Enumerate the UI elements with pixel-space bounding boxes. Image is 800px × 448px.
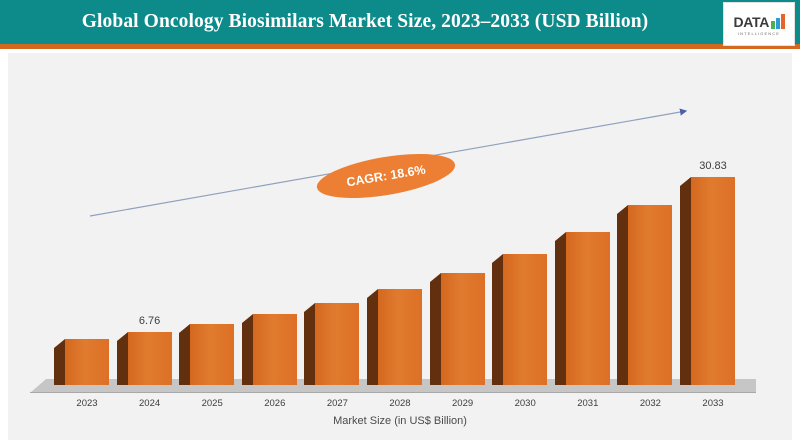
header-accent-rule <box>0 44 800 49</box>
x-axis-line <box>30 392 756 393</box>
x-tick-2024: 2024 <box>120 398 180 409</box>
brand-logo: DATA INTELLIGENCE <box>723 2 795 46</box>
x-tick-2032: 2032 <box>620 398 680 409</box>
x-tick-2033: 2033 <box>683 398 743 409</box>
logo-wordmark: DATA <box>733 15 769 29</box>
logo-tagline: INTELLIGENCE <box>738 31 780 36</box>
chart-canvas: 6.7630.83 CAGR: 18.6% 202320242025202620… <box>8 53 792 440</box>
x-tick-2023: 2023 <box>57 398 117 409</box>
logo-row: DATA <box>733 12 784 29</box>
cagr-label: CAGR: 18.6% <box>345 163 426 190</box>
logo-bar-chart-icon <box>771 13 785 29</box>
x-tick-2027: 2027 <box>307 398 367 409</box>
trend-arrow <box>8 53 792 440</box>
page-title: Global Oncology Biosimilars Market Size,… <box>0 0 730 44</box>
chart-infographic: Global Oncology Biosimilars Market Size,… <box>0 0 800 448</box>
x-tick-2028: 2028 <box>370 398 430 409</box>
x-tick-2029: 2029 <box>433 398 493 409</box>
x-axis-title: Market Size (in US$ Billion) <box>0 415 800 427</box>
x-tick-2026: 2026 <box>245 398 305 409</box>
x-tick-2030: 2030 <box>495 398 555 409</box>
x-tick-2025: 2025 <box>182 398 242 409</box>
x-tick-2031: 2031 <box>558 398 618 409</box>
plot-area: 6.7630.83 CAGR: 18.6% 202320242025202620… <box>8 53 792 440</box>
